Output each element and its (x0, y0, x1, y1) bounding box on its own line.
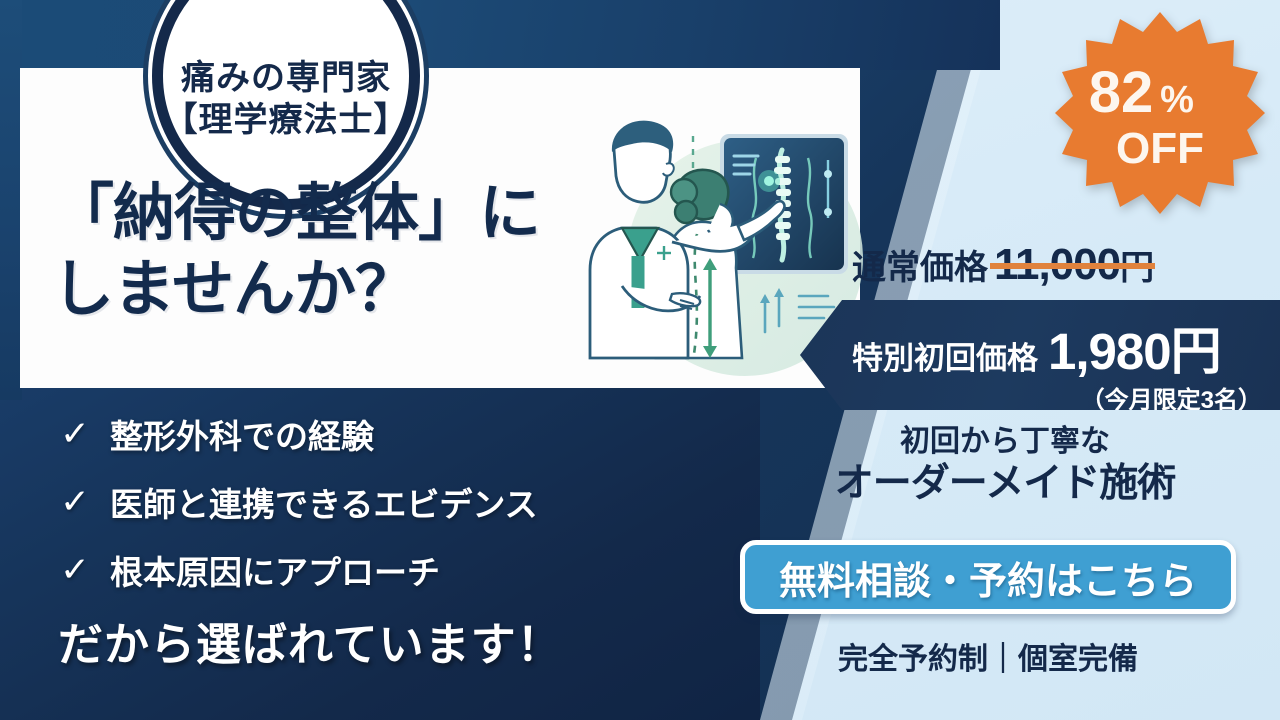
credential-badge-line2: 【理学療法士】 (164, 100, 409, 141)
check-icon: ✓ (57, 485, 93, 519)
service-copy: 初回から丁寧な オーダーメイド施術 (740, 424, 1270, 508)
credential-badge-line1: 痛みの専門家 (181, 58, 391, 99)
feature-list: ✓ 整形外科での経験 ✓ 医師と連携できるエビデンス ✓ 根本原因にアプローチ (58, 410, 658, 614)
feature-label: 医師と連携できるエビデンス (110, 478, 538, 526)
list-item: ✓ 整形外科での経験 (58, 410, 658, 458)
headline-line1: 「納得の整体」に (52, 176, 612, 252)
normal-price-label: 通常価格 (852, 240, 988, 289)
footnote: 完全予約制｜個室完備 (740, 634, 1236, 678)
cta-button[interactable]: 無料相談・予約はこちら (740, 540, 1236, 614)
normal-price-row: 通常価格 11,000円 (852, 240, 1153, 290)
discount-percent-value: 82 (1089, 60, 1154, 125)
discount-percent-symbol: % (1160, 79, 1194, 121)
cta-button-label: 無料相談・予約はこちら (779, 550, 1197, 605)
special-price-unit: 円 (1171, 323, 1221, 380)
special-price-value: 1,980円 (1048, 310, 1221, 384)
special-price-note: （今月限定3名） (852, 380, 1268, 415)
list-item: ✓ 医師と連携できるエビデンス (58, 478, 658, 526)
ad-banner: 痛みの専門家 【理学療法士】 「納得の整体」に しませんか？ (0, 0, 1280, 720)
service-copy-line2: オーダーメイド施術 (740, 460, 1270, 508)
discount-starburst-badge: 82 % OFF (1055, 8, 1265, 218)
check-icon: ✓ (57, 417, 93, 451)
check-icon: ✓ (57, 553, 93, 587)
closing-tagline: だから選ばれています！ (58, 608, 563, 673)
discount-off-label: OFF (1116, 124, 1204, 173)
feature-label: 整形外科での経験 (110, 410, 374, 458)
page-title: 「納得の整体」に しませんか？ (52, 176, 612, 327)
list-item: ✓ 根本原因にアプローチ (58, 546, 658, 594)
special-price-number: 1,980 (1048, 323, 1171, 380)
special-price-banner: 特別初回価格 1,980円 （今月限定3名） (800, 300, 1280, 410)
normal-price-value: 11,000円 (994, 240, 1153, 290)
special-price-label: 特別初回価格 (852, 333, 1038, 378)
strikethrough-line (990, 263, 1155, 269)
feature-label: 根本原因にアプローチ (110, 546, 440, 594)
service-copy-line1: 初回から丁寧な (740, 424, 1270, 460)
top-steel-band (0, 0, 1000, 70)
left-steel-band (0, 0, 22, 400)
special-price-row: 特別初回価格 1,980円 (852, 310, 1268, 384)
headline-line2: しませんか？ (52, 252, 612, 328)
